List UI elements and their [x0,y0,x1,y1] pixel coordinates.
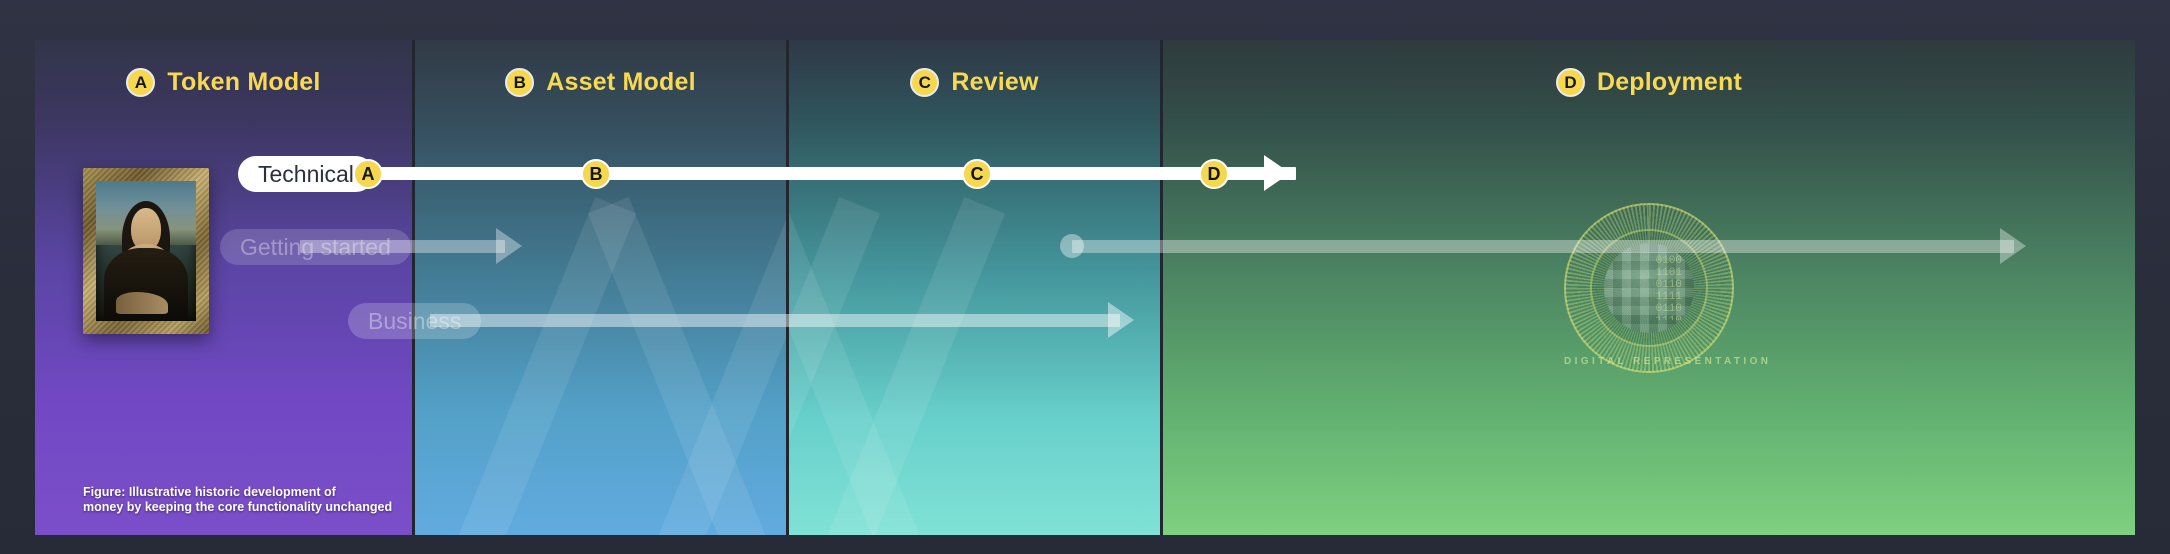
panel-title-asset-model: Asset Model [546,68,695,97]
panel-title-deployment: Deployment [1597,68,1742,97]
digital-representation-seal: 01001101 01101111 01101110 01100001 0100… [1564,203,1734,373]
panel-token-model[interactable]: A Token Model Figure: Illustrative histo… [35,40,415,535]
panel-header-deployment: D Deployment [1163,68,2135,97]
panel-title-token-model: Token Model [167,68,320,97]
panel-gradient-review [789,40,1160,535]
panel-badge-a: A [126,68,155,97]
panel-header-review: C Review [789,68,1160,97]
panel-badge-c: C [910,68,939,97]
panel-asset-model[interactable]: B Asset Model [415,40,789,535]
panel-title-review: Review [951,68,1038,97]
diagram-canvas: A Token Model Figure: Illustrative histo… [0,0,2170,554]
seal-binary-text: 01001101 01101111 01101110 01100001 0100… [1656,255,1688,320]
panel-header-token-model: A Token Model [35,68,412,97]
panel-badge-b: B [505,68,534,97]
panel-board: A Token Model Figure: Illustrative histo… [35,40,2135,535]
figure-caption: Figure: Illustrative historic developmen… [83,485,392,515]
panel-header-asset-model: B Asset Model [415,68,786,97]
panel-badge-d: D [1556,68,1585,97]
framed-painting [83,168,209,334]
panel-deployment[interactable]: 01001101 01101111 01101110 01100001 0100… [1163,40,2135,535]
panel-review[interactable]: C Review [789,40,1163,535]
caption-line-1: Figure: Illustrative historic developmen… [83,485,392,500]
panel-gradient-asset-model [415,40,786,535]
seal-label: DIGITAL REPRESENTATION [1564,356,1734,367]
caption-line-2: money by keeping the core functionality … [83,500,392,515]
painting-canvas [96,181,196,321]
seal-pixelated-core: 01001101 01101111 01101110 01100001 0100… [1604,243,1694,333]
